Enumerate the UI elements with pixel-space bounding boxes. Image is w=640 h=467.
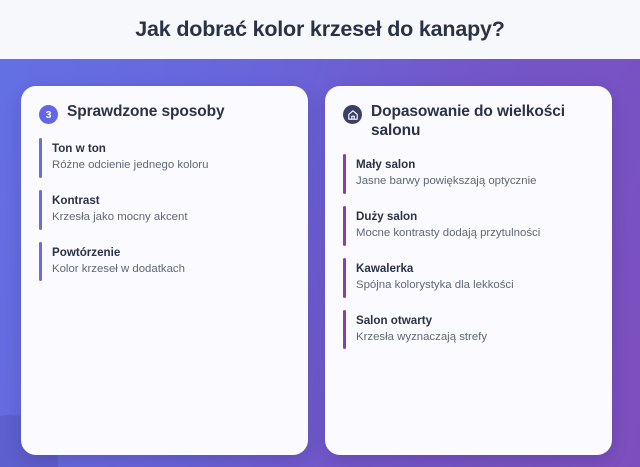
list-item-title: Kawalerka xyxy=(356,261,592,276)
page-title: Jak dobrać kolor krzeseł do kanapy? xyxy=(135,19,504,41)
list-item-desc: Krzesła jako mocny akcent xyxy=(52,210,247,226)
list-item[interactable]: Powtórzenie Kolor krzeseł w dodatkach xyxy=(39,238,290,286)
list-item[interactable]: Salon otwarty Krzesła wyznaczają strefy xyxy=(343,306,594,354)
accent-bar xyxy=(39,242,42,282)
gradient-band: 3 Sprawdzone sposoby Ton w ton Różne odc… xyxy=(0,59,640,467)
list-item-desc: Kolor krzeseł w dodatkach xyxy=(52,262,247,278)
accent-bar xyxy=(343,206,346,246)
list-item-title: Powtórzenie xyxy=(52,245,288,260)
house-icon xyxy=(343,105,362,124)
list-item-desc: Różne odcienie jednego koloru xyxy=(52,158,247,174)
card-header: 3 Sprawdzone sposoby xyxy=(39,102,290,124)
card-title: Dopasowanie do wielkości salonu xyxy=(371,102,594,140)
accent-bar xyxy=(343,258,346,298)
list-item[interactable]: Kawalerka Spójna kolorystyka dla lekkośc… xyxy=(343,254,594,302)
card-dopasowanie-do-wielkosci-salonu: Dopasowanie do wielkości salonu Mały sal… xyxy=(325,86,612,455)
card-title: Sprawdzone sposoby xyxy=(67,102,225,121)
list-item-title: Ton w ton xyxy=(52,141,288,156)
list-item-title: Salon otwarty xyxy=(356,313,592,328)
accent-bar xyxy=(343,310,346,350)
list-item-desc: Krzesła wyznaczają strefy xyxy=(356,330,556,346)
list-item-desc: Mocne kontrasty dodają przytulności xyxy=(356,226,556,242)
number-badge: 3 xyxy=(39,105,58,124)
slide-root: Jak dobrać kolor krzeseł do kanapy? 3 Sp… xyxy=(0,0,640,467)
card-list: Mały salon Jasne barwy powiększają optyc… xyxy=(343,150,594,353)
accent-bar xyxy=(343,154,346,194)
accent-bar xyxy=(39,138,42,178)
list-item-title: Kontrast xyxy=(52,193,288,208)
slide-header: Jak dobrać kolor krzeseł do kanapy? xyxy=(0,0,640,59)
cards-container: 3 Sprawdzone sposoby Ton w ton Różne odc… xyxy=(0,59,640,467)
card-sprawdzone-sposoby: 3 Sprawdzone sposoby Ton w ton Różne odc… xyxy=(21,86,308,455)
card-list: Ton w ton Różne odcienie jednego koloru … xyxy=(39,134,290,285)
list-item[interactable]: Kontrast Krzesła jako mocny akcent xyxy=(39,186,290,234)
card-header: Dopasowanie do wielkości salonu xyxy=(343,102,594,140)
list-item[interactable]: Mały salon Jasne barwy powiększają optyc… xyxy=(343,150,594,198)
list-item-title: Mały salon xyxy=(356,157,592,172)
list-item-title: Duży salon xyxy=(356,209,592,224)
list-item-desc: Spójna kolorystyka dla lekkości xyxy=(356,278,556,294)
accent-bar xyxy=(39,190,42,230)
list-item[interactable]: Duży salon Mocne kontrasty dodają przytu… xyxy=(343,202,594,250)
list-item-desc: Jasne barwy powiększają optycznie xyxy=(356,174,556,190)
list-item[interactable]: Ton w ton Różne odcienie jednego koloru xyxy=(39,134,290,182)
